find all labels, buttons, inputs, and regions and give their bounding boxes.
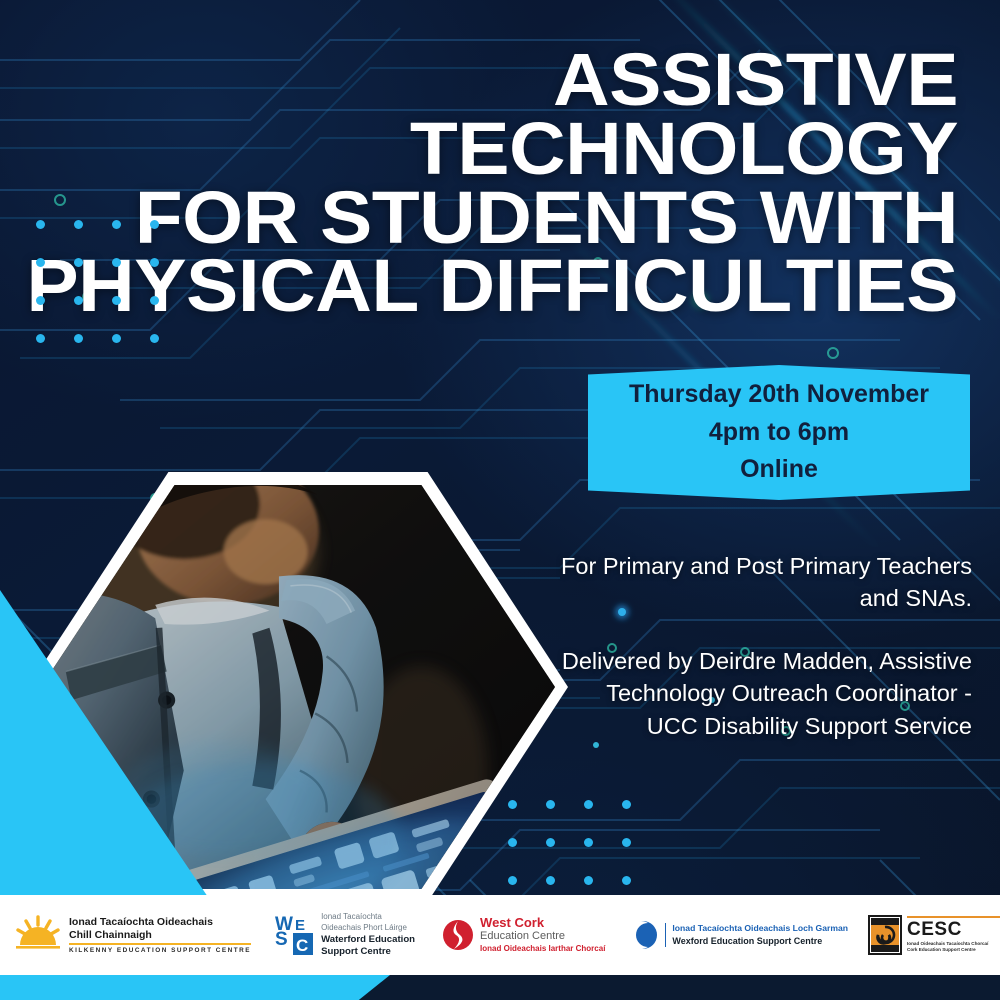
cesc-monogram: CESC <box>907 920 1000 939</box>
event-details-banner: Thursday 20th November 4pm to 6pm Online <box>588 365 970 500</box>
event-mode: Online <box>740 453 818 487</box>
waterford-name-english: Waterford Education <box>321 934 415 946</box>
cesc-name-english: Cork Education Support Centre <box>907 947 1000 953</box>
logo-cesc: CESC Ionad Oideachais Tacaíochta Chorcaí… <box>868 915 1000 955</box>
west-cork-swirl-icon <box>441 917 475 953</box>
kilkenny-name-irish2: Chill Chainnaigh <box>69 929 251 942</box>
audience-text: For Primary and Post Primary Teachers an… <box>560 550 972 615</box>
west-cork-name: West Cork <box>480 916 605 930</box>
svg-text:E: E <box>295 917 305 934</box>
event-time: 4pm to 6pm <box>709 416 849 450</box>
bottom-cyan-accent <box>0 975 390 1000</box>
wexford-crescent-icon <box>627 919 659 951</box>
west-cork-name2: Education Centre <box>480 930 605 943</box>
waterford-name-irish: Ionad Tacaíochta <box>321 912 415 922</box>
kilkenny-sunburst-icon <box>14 914 62 956</box>
logo-west-cork: West Cork Education Centre Ionad Oideach… <box>441 916 605 955</box>
event-date: Thursday 20th November <box>629 378 929 412</box>
waterford-name-irish2: Oideachais Phort Láirge <box>321 923 415 933</box>
logo-wexford: Ionad Tacaíochta Oideachais Loch Garman … <box>627 919 848 951</box>
presenter-text: Delivered by Deirdre Madden, Assistive T… <box>560 645 972 742</box>
cesc-spiral-icon <box>868 915 902 955</box>
west-cork-name-irish: Ionad Oideachais Iarthar Chorcaí <box>480 944 605 954</box>
poster-canvas: ASSISTIVE TECHNOLOGY FOR STUDENTS WITH P… <box>0 0 1000 1000</box>
bottom-band <box>0 975 1000 1000</box>
event-description: For Primary and Post Primary Teachers an… <box>560 550 972 742</box>
wexford-name-irish: Ionad Tacaíochta Oideachais Loch Garman <box>672 923 848 935</box>
wexford-name-english: Wexford Education Support Centre <box>672 935 848 947</box>
svg-text:S: S <box>275 929 288 950</box>
cesc-divider <box>907 916 1000 918</box>
kilkenny-name-irish: Ionad Tacaíochta Oideachais <box>69 916 251 929</box>
svg-text:C: C <box>296 936 308 955</box>
logo-waterford: W S E C Ionad Tacaíochta Oideachais Phor… <box>275 912 415 958</box>
partner-logo-strip: Ionad Tacaíochta Oideachais Chill Chainn… <box>0 895 1000 975</box>
kilkenny-divider <box>69 943 251 945</box>
dot-grid-top-left <box>36 220 188 372</box>
waterford-name-english2: Support Centre <box>321 946 415 958</box>
kilkenny-name-english: KILKENNY EDUCATION SUPPORT CENTRE <box>69 947 251 954</box>
logo-kilkenny: Ionad Tacaíochta Oideachais Chill Chainn… <box>14 914 251 956</box>
waterford-wesc-monogram-icon: W S E C <box>275 913 315 957</box>
